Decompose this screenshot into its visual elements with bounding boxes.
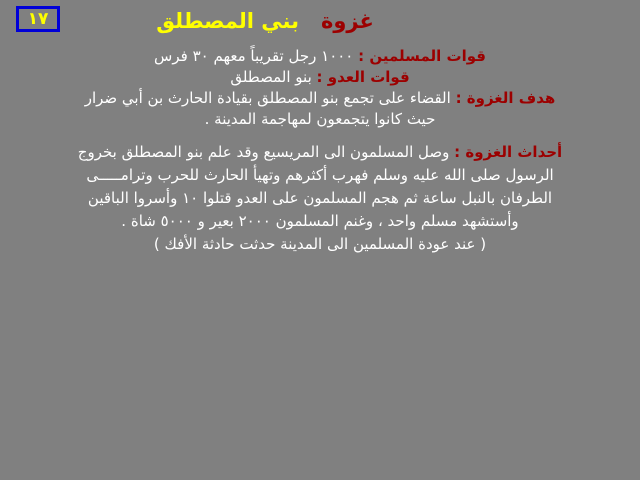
enemy-forces-value: بنو المصطلق (230, 68, 311, 86)
events-text-5: ( عند عودة المسلمين الى المدينة حدثت حاد… (154, 235, 486, 253)
objective-line-2: حيث كانوا يتجمعون لمهاجمة المدينة . (12, 109, 628, 130)
slide-body: قوات المسلمين : ١٠٠٠ رجل تقريباً معهم ٣٠… (12, 46, 628, 256)
muslim-forces-line: قوات المسلمين : ١٠٠٠ رجل تقريباً معهم ٣٠… (12, 46, 628, 67)
enemy-forces-line: قوات العدو : بنو المصطلق (12, 67, 628, 88)
page-title-part-tribe: بني المصطلق (156, 9, 299, 33)
objective-label: هدف الغزوة : (456, 89, 556, 107)
events-text-1: وصل المسلمون الى المريسيع وقد علم بنو ال… (78, 143, 450, 161)
events-section: أحداث الغزوة : وصل المسلمون الى المريسيع… (12, 141, 628, 256)
page-title-part-ghazwa: غزوة (321, 9, 374, 33)
forces-section: قوات المسلمين : ١٠٠٠ رجل تقريباً معهم ٣٠… (12, 46, 628, 88)
events-line-3: الطرفان بالنبل ساعة ثم هجم المسلمون على … (12, 187, 628, 210)
objective-text-2: حيث كانوا يتجمعون لمهاجمة المدينة . (205, 110, 436, 128)
events-text-3: الطرفان بالنبل ساعة ثم هجم المسلمون على … (88, 189, 552, 207)
enemy-forces-label: قوات العدو : (317, 68, 410, 86)
section-spacer (12, 130, 628, 141)
muslim-forces-value: ١٠٠٠ رجل تقريباً معهم ٣٠ فرس (154, 47, 353, 65)
events-line-5: ( عند عودة المسلمين الى المدينة حدثت حاد… (12, 233, 628, 256)
events-text-2: الرسول صلى الله عليه وسلم فهرب أكثرهم وت… (86, 166, 553, 184)
objective-text-1: القضاء على تجمع بنو المصطلق بقيادة الحار… (85, 89, 451, 107)
events-line-4: وأستشهد مسلم واحد ، وغنم المسلمون ٢٠٠٠ ب… (12, 210, 628, 233)
events-label: أحداث الغزوة : (454, 143, 562, 161)
events-line-1: أحداث الغزوة : وصل المسلمون الى المريسيع… (12, 141, 628, 164)
objective-section: هدف الغزوة : القضاء على تجمع بنو المصطلق… (12, 88, 628, 130)
muslim-forces-label: قوات المسلمين : (358, 47, 486, 65)
page-title: غزوة بني المصطلق (0, 8, 640, 34)
events-line-2: الرسول صلى الله عليه وسلم فهرب أكثرهم وت… (12, 164, 628, 187)
objective-line-1: هدف الغزوة : القضاء على تجمع بنو المصطلق… (12, 88, 628, 109)
events-text-4: وأستشهد مسلم واحد ، وغنم المسلمون ٢٠٠٠ ب… (121, 212, 518, 230)
